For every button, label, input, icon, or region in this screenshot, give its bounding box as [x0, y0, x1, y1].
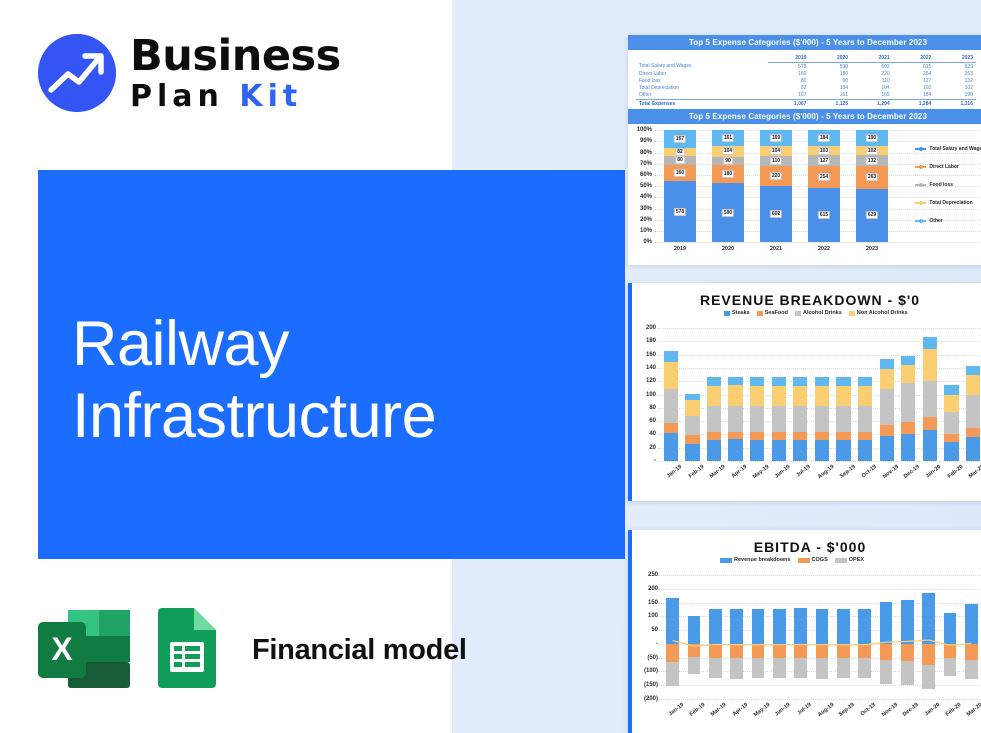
legend-item: Direct Labor — [915, 164, 981, 170]
title-line-2: Infrastructure — [72, 380, 592, 452]
y-tick-label: 140 — [634, 365, 656, 371]
bar-group: 190102132263629 — [856, 130, 887, 242]
x-tick-label: 2019 — [664, 246, 695, 252]
x-tick-label: Apr-19 — [731, 464, 748, 479]
bar-group — [858, 328, 872, 461]
table-row: Total Expenses1,0671,1251,2041,2841,316 — [636, 99, 976, 107]
bar-segment — [858, 377, 872, 386]
bar-segment — [880, 425, 894, 436]
y-tick-label: 30% — [630, 206, 652, 212]
bar-segment — [793, 440, 807, 461]
bar-segment: 103 — [808, 146, 839, 155]
legend-label: Steaks — [732, 310, 750, 316]
bar-segment: 90 — [712, 157, 743, 166]
legend-label: Total Salary and Wages — [929, 146, 981, 152]
bar-value-label: 615 — [818, 211, 830, 219]
bar-segment — [772, 406, 786, 433]
bar-segment: 169 — [760, 130, 791, 146]
bar-segment: 615 — [808, 188, 839, 242]
brand-wordmark: Business Plan Kit — [130, 35, 341, 112]
chart-legend: Total Salary and WagesDirect LaborFood l… — [915, 146, 981, 224]
financial-model-label: Financial model — [252, 634, 467, 667]
legend-item: Steaks — [724, 310, 750, 316]
legend-swatch-icon — [724, 311, 730, 316]
bar-segment — [728, 385, 742, 406]
bar-segment — [923, 430, 937, 461]
expense-cell: 132 — [934, 77, 976, 84]
expense-chart-title: Top 5 Expense Categories ($'000) - 5 Yea… — [628, 109, 981, 124]
bar-value-label: 180 — [722, 170, 734, 178]
x-axis-labels: Jan-19Feb-19Mar-19Apr-19May-19Jun-19Jul-… — [660, 464, 981, 470]
bar-segment — [858, 432, 872, 439]
bar-segment — [944, 434, 958, 441]
expense-table-title: Top 5 Expense Categories ($'000) - 5 Yea… — [628, 35, 981, 50]
microsoft-excel-icon[interactable]: X — [38, 608, 130, 692]
google-sheets-icon[interactable] — [152, 608, 222, 692]
bar-segment — [750, 406, 764, 433]
bar-segment — [707, 406, 721, 433]
bar-value-label: 102 — [866, 147, 878, 155]
bar-group — [944, 328, 958, 461]
bar-segment — [944, 412, 958, 434]
y-tick-label: 40 — [634, 431, 656, 437]
expense-cell: 602 — [851, 63, 893, 71]
legend-item: Other — [915, 218, 981, 224]
expense-cell: 1,067 — [768, 99, 810, 107]
svg-text:X: X — [51, 631, 73, 667]
bar-segment — [901, 434, 915, 461]
bar-group — [728, 328, 742, 461]
expense-col-header: 2023 — [934, 54, 976, 63]
bar-value-label: 82 — [675, 148, 685, 156]
bar-value-label: 104 — [770, 147, 782, 155]
bar-segment — [966, 437, 980, 461]
expense-cell: 220 — [851, 70, 893, 77]
bar-segment — [664, 362, 678, 389]
y-tick-label: 100 — [634, 392, 656, 398]
chart-legend: SteaksSeaFoodAlcohol DrinksNon Alcohol D… — [724, 310, 908, 316]
bar-value-label: 161 — [722, 134, 734, 142]
bar-segment — [815, 432, 829, 439]
bar-segment — [685, 400, 699, 417]
bar-segment — [901, 356, 915, 365]
bar-group — [966, 328, 980, 461]
legend-label: Alcohol Drinks — [803, 310, 842, 316]
bar-value-label: 254 — [818, 173, 830, 181]
expense-cell: 80 — [768, 77, 810, 84]
bar-group — [750, 328, 764, 461]
bar-segment — [836, 440, 850, 461]
y-tick-label: 90% — [630, 138, 652, 144]
x-tick-label: Jul-19 — [796, 464, 812, 479]
bar-value-label: 169 — [770, 134, 782, 142]
bar-segment: 102 — [856, 146, 887, 155]
bar-segment — [944, 395, 958, 413]
bar-value-label: 80 — [675, 156, 685, 164]
y-tick-label: 50% — [630, 183, 652, 189]
y-tick-label: 120 — [634, 378, 656, 384]
bar-segment — [707, 386, 721, 406]
brand-logo[interactable]: Business Plan Kit — [38, 34, 341, 112]
bar-segment — [793, 406, 807, 433]
bar-group — [707, 328, 721, 461]
legend-swatch-icon — [849, 311, 855, 316]
expense-cell: 127 — [893, 77, 935, 84]
bar-segment — [901, 422, 915, 434]
expense-cell: 615 — [893, 63, 935, 71]
table-row: Total Salary and Wages578590602615629 — [636, 63, 976, 71]
expense-row-label: Direct Labor — [636, 70, 768, 77]
table-row: Other167161169184190 — [636, 92, 976, 100]
x-tick-label: Dec-19 — [903, 464, 921, 480]
bar-value-label: 104 — [722, 147, 734, 155]
bar-segment — [880, 436, 894, 461]
y-tick-label: 20% — [630, 217, 652, 223]
expense-row-label: Other — [636, 92, 768, 100]
bar-segment — [923, 349, 937, 380]
y-tick-label: 60 — [634, 418, 656, 424]
y-tick-label: 80% — [630, 150, 652, 156]
bar-segment — [815, 440, 829, 461]
bar-segment — [664, 389, 678, 423]
x-tick-label: 2022 — [808, 246, 839, 252]
bar-segment — [772, 432, 786, 439]
x-tick-label: 2021 — [760, 246, 791, 252]
y-tick-label: 40% — [630, 194, 652, 200]
bar-segment — [880, 369, 894, 389]
bar-segment — [750, 432, 764, 439]
expense-cell: 1,316 — [934, 99, 976, 107]
bar-group — [772, 328, 786, 461]
y-tick-label: (150) — [632, 682, 658, 688]
legend-marker-icon — [915, 202, 926, 203]
expense-cell: 263 — [934, 70, 976, 77]
y-tick-label: 100 — [632, 613, 658, 619]
expense-cell: 590 — [809, 63, 851, 71]
expense-col-header: 2022 — [893, 54, 935, 63]
y-tick-label: 250 — [632, 572, 658, 578]
expense-cell: 184 — [893, 92, 935, 100]
expense-cell: 110 — [851, 77, 893, 84]
bar-segment — [836, 406, 850, 433]
x-axis-labels: Jan-19Feb-19Mar-19Apr-19May-19Jun-19Jul-… — [662, 702, 981, 708]
x-tick-label: Jun-19 — [774, 464, 792, 480]
gridline — [654, 242, 981, 243]
bar-segment — [815, 386, 829, 406]
bar-value-label: 110 — [770, 157, 782, 165]
bar-area — [660, 328, 981, 461]
bar-value-label: 90 — [723, 157, 733, 165]
brand-kit-text: Kit — [239, 79, 302, 114]
expense-cell: 82 — [768, 85, 810, 92]
expense-cell: 160 — [768, 70, 810, 77]
y-tick-label: 50 — [632, 627, 658, 633]
x-tick-label: Sep-19 — [838, 464, 856, 480]
bar-segment — [750, 386, 764, 406]
bar-segment — [836, 386, 850, 406]
revenue-chart-title: REVENUE BREAKDOWN - $'0 — [632, 283, 981, 308]
expense-cell: 629 — [934, 63, 976, 71]
bar-segment: 82 — [664, 148, 695, 157]
bar-segment — [944, 385, 958, 394]
y-tick-label: - — [632, 641, 658, 647]
bar-segment — [966, 366, 980, 375]
y-tick-label: 160 — [634, 352, 656, 358]
bar-segment: 184 — [808, 130, 839, 146]
y-tick-label: 10% — [630, 228, 652, 234]
expense-col-header — [636, 54, 768, 63]
y-tick-label: 20 — [634, 445, 656, 451]
x-tick-label: Nov-19 — [881, 464, 899, 480]
bar-group — [815, 328, 829, 461]
expense-cell: 1,204 — [851, 99, 893, 107]
bar-segment: 110 — [760, 156, 791, 166]
bar-segment — [923, 417, 937, 430]
brand-line-plan-kit: Plan Kit — [130, 82, 341, 112]
legend-marker-icon — [915, 220, 926, 221]
legend-swatch-icon — [757, 311, 763, 316]
expense-row-label: Total Expenses — [636, 99, 768, 107]
bar-segment: 180 — [712, 165, 743, 183]
bar-value-label: 190 — [866, 134, 878, 142]
y-tick-label: 60% — [630, 172, 652, 178]
x-tick-label: Jan-19 — [666, 464, 683, 479]
bar-segment: 578 — [664, 181, 695, 242]
y-tick-label: (50) — [632, 655, 658, 661]
y-tick-label: 200 — [634, 325, 656, 331]
legend-item: SeaFood — [757, 310, 788, 316]
bar-segment: 190 — [856, 130, 887, 146]
expense-cell: 180 — [809, 70, 851, 77]
bar-segment: 263 — [856, 166, 887, 188]
y-tick-label: (200) — [632, 696, 658, 702]
bar-segment — [772, 377, 786, 386]
bar-segment — [707, 440, 721, 461]
expense-col-header: 2019 — [768, 54, 810, 63]
bar-group — [664, 328, 678, 461]
bar-segment — [750, 377, 764, 386]
x-axis-labels: 20192020202120222023 — [656, 246, 896, 252]
bar-group: 1678280160578 — [664, 130, 695, 242]
bar-segment — [966, 375, 980, 394]
bar-segment — [707, 432, 721, 439]
bar-segment: 160 — [664, 165, 695, 182]
legend-marker-icon — [915, 166, 926, 167]
bar-value-label: 103 — [818, 147, 830, 155]
expense-categories-card: Top 5 Expense Categories ($'000) - 5 Yea… — [628, 35, 981, 265]
bar-segment — [901, 365, 915, 382]
bar-group — [685, 328, 699, 461]
bar-segment — [793, 386, 807, 406]
bar-segment — [750, 440, 764, 461]
x-tick-label: Feb-19 — [687, 464, 705, 480]
bar-group — [880, 328, 894, 461]
bar-value-label: 629 — [866, 211, 878, 219]
bar-segment: 127 — [808, 155, 839, 166]
table-row: Direct Labor160180220254263 — [636, 70, 976, 77]
bar-group: 184103127254615 — [808, 130, 839, 242]
legend-marker-icon — [915, 184, 926, 185]
bar-segment — [901, 383, 915, 423]
expense-cell: 578 — [768, 63, 810, 71]
bar-segment — [793, 377, 807, 386]
bar-segment — [836, 377, 850, 386]
brand-plan-text: Plan — [130, 79, 224, 114]
trend-arrow-circle-icon — [38, 34, 116, 112]
legend-swatch-icon — [795, 311, 801, 316]
bar-value-label: 167 — [674, 135, 686, 143]
bar-segment — [728, 406, 742, 432]
brand-line-business: Business — [130, 35, 341, 78]
x-tick-label: Oct-19 — [860, 464, 877, 479]
y-tick-label: - — [634, 458, 656, 464]
bar-segment — [880, 389, 894, 425]
bar-group — [923, 328, 937, 461]
expense-row-label: Food loss — [636, 77, 768, 84]
bar-segment — [880, 359, 894, 369]
expense-col-header: 2020 — [809, 54, 851, 63]
bar-value-label: 220 — [770, 172, 782, 180]
bar-segment — [923, 337, 937, 350]
ebitda-card: EBITDA - $'000 Revenue breakdownsCOGSOPE… — [628, 530, 981, 733]
bar-segment — [685, 444, 699, 461]
bar-value-label: 184 — [818, 134, 830, 142]
ebitda-chart-title: EBITDA - $'000 — [632, 530, 981, 555]
x-tick-label: Feb-20 — [946, 464, 964, 480]
bar-segment — [923, 381, 937, 418]
legend-label: Direct Labor — [929, 164, 958, 170]
bar-segment: 104 — [712, 146, 743, 156]
table-row: Total Depreciation82104104103102 — [636, 85, 976, 92]
x-tick-label: 2023 — [856, 246, 887, 252]
bar-value-label: 602 — [770, 210, 782, 218]
revenue-breakdown-card: REVENUE BREAKDOWN - $'0 SteaksSeaFoodAlc… — [628, 283, 981, 501]
expense-cell: 90 — [809, 77, 851, 84]
bar-segment: 602 — [760, 186, 791, 242]
bar-segment: 132 — [856, 155, 887, 166]
x-tick-label: Mar-19 — [709, 464, 727, 480]
bar-segment — [728, 377, 742, 386]
bar-segment — [685, 435, 699, 444]
bar-value-label: 132 — [866, 157, 878, 165]
bar-segment — [858, 386, 872, 406]
bar-group — [793, 328, 807, 461]
bar-segment — [966, 428, 980, 437]
bar-value-label: 590 — [722, 209, 734, 217]
legend-marker-icon — [915, 148, 926, 149]
slide-canvas: Business Plan Kit Railway Infrastructure… — [0, 0, 981, 733]
bar-segment — [664, 433, 678, 461]
x-tick-label: Mar-20 — [968, 464, 981, 480]
bar-segment — [707, 377, 721, 386]
expense-cell: 169 — [851, 92, 893, 100]
y-tick-label: 80 — [634, 405, 656, 411]
x-tick-label: Aug-19 — [817, 464, 835, 480]
expense-cell: 1,284 — [893, 99, 935, 107]
page-title: Railway Infrastructure — [72, 308, 592, 453]
expense-cell: 254 — [893, 70, 935, 77]
bar-segment: 254 — [808, 166, 839, 188]
bar-segment — [728, 439, 742, 461]
y-tick-label: 100% — [630, 127, 652, 133]
bar-group — [901, 328, 915, 461]
bar-value-label: 578 — [674, 208, 686, 216]
expense-col-header: 2021 — [851, 54, 893, 63]
bar-segment — [664, 423, 678, 433]
bar-segment — [858, 440, 872, 461]
bar-segment — [944, 442, 958, 461]
expense-cell: 104 — [851, 85, 893, 92]
y-tick-label: 70% — [630, 161, 652, 167]
bar-area: 1678280160578161104901805901691041102206… — [656, 130, 896, 242]
table-row: Food loss8090110127132 — [636, 77, 976, 84]
legend-item: Alcohol Drinks — [795, 310, 842, 316]
bar-segment — [728, 432, 742, 439]
bar-group: 16110490180590 — [712, 130, 743, 242]
expense-stacked-chart: 100%90%80%70%60%50%40%30%20%10%0%1678280… — [628, 124, 981, 262]
bar-segment: 80 — [664, 156, 695, 164]
legend-label: Food loss — [929, 182, 953, 188]
bar-value-label: 160 — [674, 169, 686, 177]
expense-cell: 161 — [809, 92, 851, 100]
expense-cell: 167 — [768, 92, 810, 100]
bar-segment — [858, 406, 872, 433]
x-tick-label: Jan-20 — [925, 464, 942, 479]
bar-segment — [772, 440, 786, 461]
bar-segment: 167 — [664, 130, 695, 148]
legend-label: Total Depreciation — [929, 200, 972, 206]
y-tick-label: 0% — [630, 239, 652, 245]
revenue-stacked-chart: SteaksSeaFoodAlcohol DrinksNon Alcohol D… — [632, 310, 981, 495]
bar-segment — [685, 416, 699, 435]
bar-segment: 590 — [712, 183, 743, 242]
legend-item: Total Depreciation — [915, 200, 981, 206]
bar-segment — [793, 432, 807, 439]
x-tick-label: May-19 — [752, 464, 770, 480]
expense-row-label: Total Salary and Wages — [636, 63, 768, 71]
expense-cell: 103 — [893, 85, 935, 92]
ebitda-chart: Revenue breakdownsCOGSOPEX25020015010050… — [632, 557, 981, 729]
bar-group — [836, 328, 850, 461]
expense-cell: 104 — [809, 85, 851, 92]
bar-segment: 104 — [760, 146, 791, 156]
legend-label: Non Alcohol Drinks — [857, 310, 908, 316]
y-tick-label: 150 — [632, 600, 658, 606]
expense-cell: 102 — [934, 85, 976, 92]
legend-label: Other — [929, 218, 942, 224]
y-tick-label: 200 — [632, 586, 658, 592]
expense-table: 20192020202120222023Total Salary and Wag… — [628, 50, 981, 109]
bar-value-label: 263 — [866, 173, 878, 181]
legend-item: Food loss — [915, 182, 981, 188]
bar-group: 169104110220602 — [760, 130, 791, 242]
bar-segment — [664, 351, 678, 362]
title-line-1: Railway — [72, 308, 592, 380]
bar-segment — [772, 386, 786, 406]
gridline — [658, 461, 981, 462]
bar-segment — [815, 377, 829, 386]
bar-value-label: 127 — [818, 157, 830, 165]
expense-cell: 190 — [934, 92, 976, 100]
bar-segment: 220 — [760, 166, 791, 186]
expense-cell: 1,125 — [809, 99, 851, 107]
bar-segment — [836, 432, 850, 439]
bar-segment — [966, 395, 980, 429]
bar-segment — [815, 406, 829, 433]
y-tick-label: 180 — [634, 338, 656, 344]
expense-row-label: Total Depreciation — [636, 85, 768, 92]
y-tick-label: (100) — [632, 668, 658, 674]
